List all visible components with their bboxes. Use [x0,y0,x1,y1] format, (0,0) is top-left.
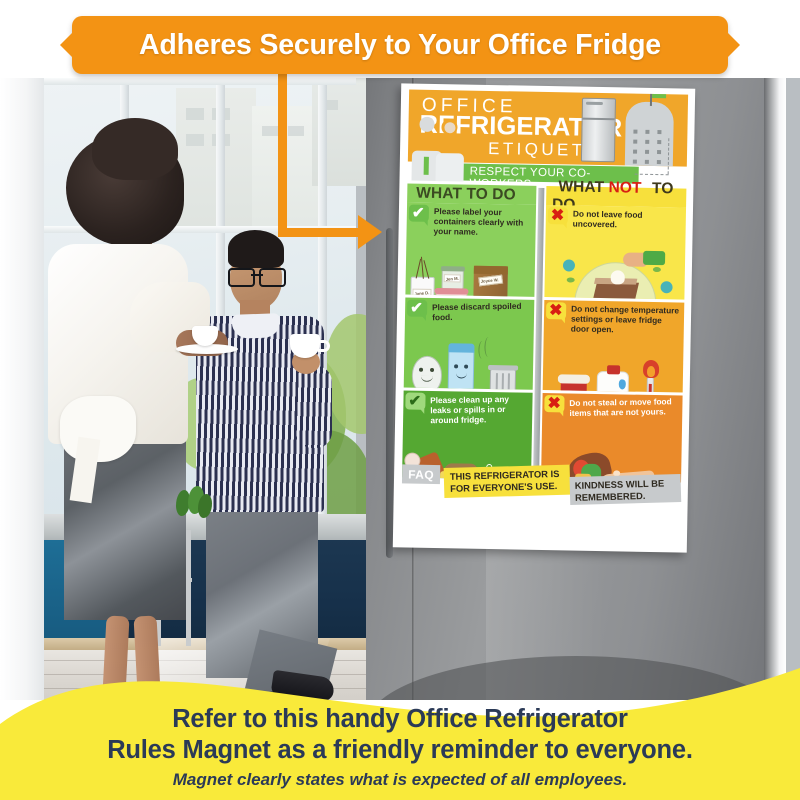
eyeglasses-icon [228,268,286,284]
top-headline-banner: Adheres Securely to Your Office Fridge [72,16,728,74]
product-marketing-image: OFFICE REFRIGERATOR ETIQUETTE [0,0,800,800]
fridge-handle [386,228,393,558]
what-to-do-column: WHAT TO DO ✔ Please label your container… [402,183,536,460]
everyone-use-banner: THIS REFRIGERATOR IS FOR EVERYONE'S USE. [444,465,571,498]
check-badge-icon: ✔ [409,205,429,225]
bottom-caption-line2: Rules Magnet as a friendly reminder to e… [0,735,800,766]
what-not-to-do-heading: WHAT NOT TO DO [546,186,686,208]
kindness-banner: KINDNESS WILL BE REMEMBERED. [570,474,682,505]
illustrated-coworker [435,137,464,182]
bottom-caption-subline: Magnet clearly states what is expected o… [0,770,800,790]
office-building-icon [625,101,674,166]
bottom-caption-banner: Refer to this handy Office Refrigerator … [0,640,800,800]
x-badge-icon: ✖ [548,207,568,227]
dont-item-temperature: ✖ Do not change temperature settings or … [543,300,685,393]
what-not-to-do-column: WHAT NOT TO DO ✖ Do not leave food uncov… [541,186,686,464]
dont-item-uncovered-food: ✖ Do not leave food uncovered. [544,205,686,300]
top-headline-text: Adheres Securely to Your Office Fridge [139,29,661,62]
refrigerator-etiquette-poster[interactable]: OFFICE REFRIGERATOR ETIQUETTE [393,83,695,552]
callout-connector-vertical [278,74,287,237]
container-label: Jane D. [414,290,429,296]
check-badge-icon: ✔ [405,392,425,412]
container-label: Jen M. [446,276,459,282]
poster-footer: FAQ THIS REFRIGERATOR IS FOR EVERYONE'S … [402,462,682,505]
refrigerator-icon [581,98,616,163]
bottom-caption-line1: Refer to this handy Office Refrigerator [0,704,800,735]
check-badge-icon: ✔ [407,299,427,319]
what-to-do-heading: WHAT TO DO [407,183,536,204]
x-badge-icon: ✖ [544,395,564,415]
potted-plant [170,486,214,520]
flag-icon [652,89,666,98]
x-badge-icon: ✖ [546,302,566,322]
do-item-discard-spoiled: ✔ Please discard spoiled food. [404,297,535,389]
callout-connector-horizontal [278,228,362,237]
do-item-label-containers: ✔ Please label your containers clearly w… [405,202,536,296]
callout-arrowhead-icon [358,215,382,249]
faq-badge[interactable]: FAQ [402,464,440,484]
